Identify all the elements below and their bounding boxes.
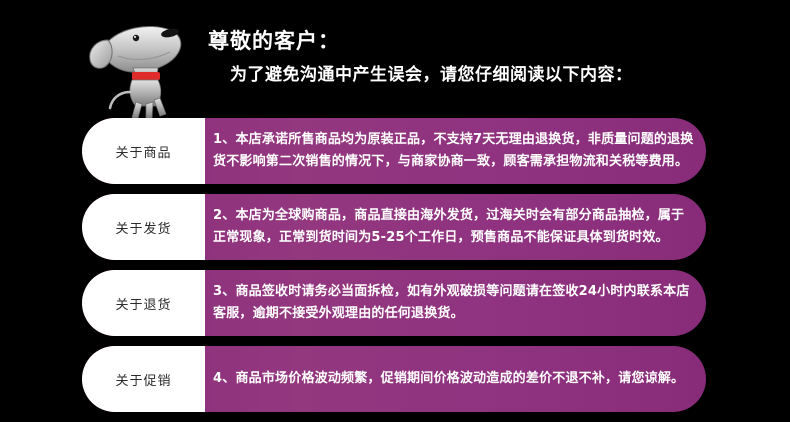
notice-row-line: 1、本店承诺所售商品均为原装正品，不支持7天无理由退换货，非质量问题的退换 <box>213 129 693 151</box>
banner-header: 尊敬的客户： 为了避免沟通中产生误会，请您仔细阅读以下内容： <box>0 0 790 118</box>
notice-rows: 关于商品 1、本店承诺所售商品均为原装正品，不支持7天无理由退换货，非质量问题的… <box>0 118 790 422</box>
notice-row-line: 3、商品签收时请务必当面拆检，如有外观破损等问题请在签收24小时内联系本店 <box>213 281 693 303</box>
notice-row-label-pill: 关于商品 <box>82 118 205 184</box>
notice-row-label-pill: 关于退货 <box>82 270 205 336</box>
notice-row: 关于退货 3、商品签收时请务必当面拆检，如有外观破损等问题请在签收24小时内联系… <box>0 270 790 336</box>
notice-row-body: 1、本店承诺所售商品均为原装正品，不支持7天无理由退换货，非质量问题的退换 货不… <box>213 118 693 184</box>
notice-row: 关于发货 2、本店为全球购商品，商品直接由海外发货，过海关时会有部分商品抽检，属… <box>0 194 790 260</box>
notice-row-body: 4、商品市场价格波动频繁，促销期间价格波动造成的差价不退不补，请您谅解。 <box>213 346 693 412</box>
notice-banner-page: 尊敬的客户： 为了避免沟通中产生误会，请您仔细阅读以下内容： 关于商品 1、本店… <box>0 0 790 414</box>
title-block: 尊敬的客户： 为了避免沟通中产生误会，请您仔细阅读以下内容： <box>208 26 728 88</box>
notice-row: 关于促销 4、商品市场价格波动频繁，促销期间价格波动造成的差价不退不补，请您谅解… <box>0 346 790 412</box>
notice-row-label-pill: 关于发货 <box>82 194 205 260</box>
notice-row-label: 关于商品 <box>115 142 171 161</box>
page-subtitle: 为了避免沟通中产生误会，请您仔细阅读以下内容： <box>230 62 728 88</box>
page-title: 尊敬的客户： <box>208 26 728 56</box>
notice-row-label: 关于退货 <box>115 294 171 313</box>
notice-row: 关于商品 1、本店承诺所售商品均为原装正品，不支持7天无理由退换货，非质量问题的… <box>0 118 790 184</box>
notice-row-body: 3、商品签收时请务必当面拆检，如有外观破损等问题请在签收24小时内联系本店 客服… <box>213 270 693 336</box>
grey-dog-mascot-icon <box>78 14 190 118</box>
notice-row-line: 客服，逾期不接受外观理由的任何退换货。 <box>213 303 693 325</box>
notice-row-label-pill: 关于促销 <box>82 346 205 412</box>
notice-row-line: 2、本店为全球购商品，商品直接由海外发货，过海关时会有部分商品抽检，属于 <box>213 205 693 227</box>
notice-row-label: 关于促销 <box>115 370 171 389</box>
notice-row-line: 正常现象，正常到货时间为5-25个工作日，预售商品不能保证具体到货时效。 <box>213 227 693 249</box>
notice-row-body: 2、本店为全球购商品，商品直接由海外发货，过海关时会有部分商品抽检，属于 正常现… <box>213 194 693 260</box>
notice-row-line: 4、商品市场价格波动频繁，促销期间价格波动造成的差价不退不补，请您谅解。 <box>213 369 693 389</box>
notice-row-label: 关于发货 <box>115 218 171 237</box>
notice-row-line: 货不影响第二次销售的情况下，与商家协商一致，顾客需承担物流和关税等费用。 <box>213 151 693 173</box>
